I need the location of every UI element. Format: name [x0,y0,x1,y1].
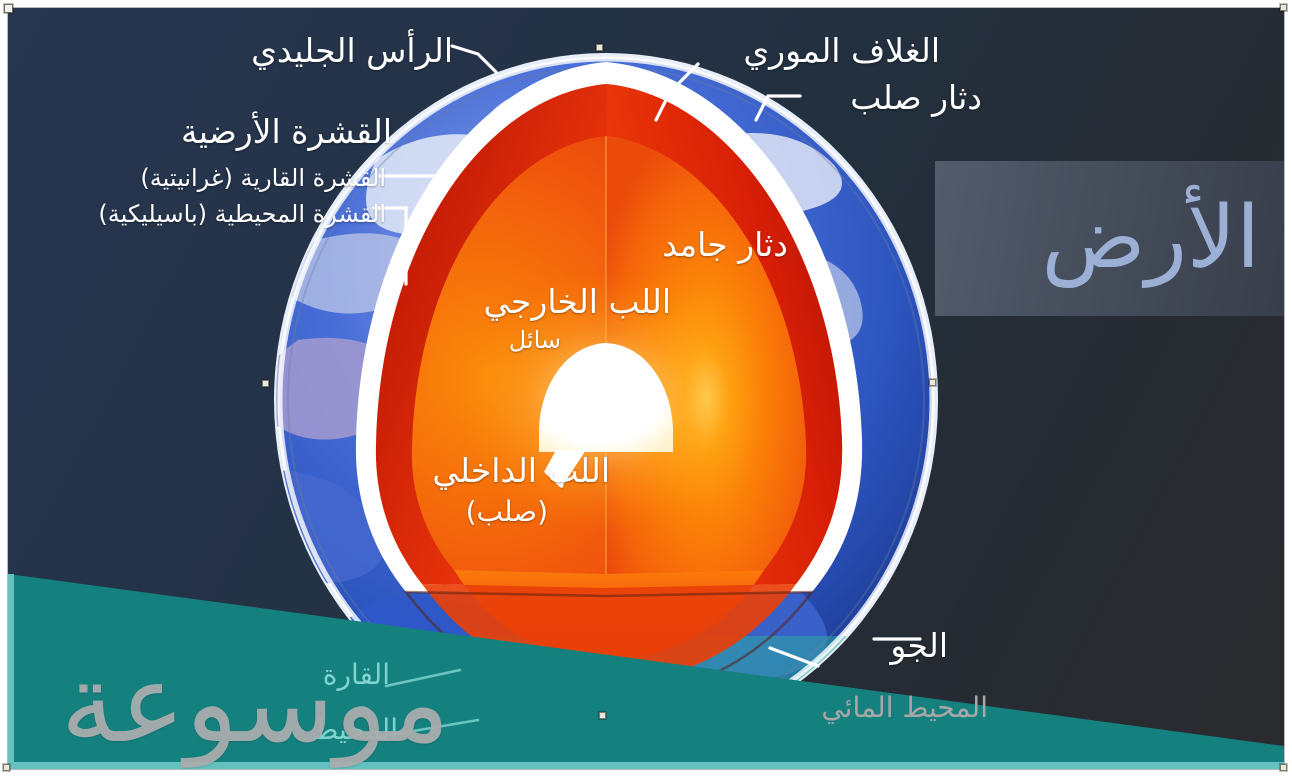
label-hydrosphere: المحيط المائي [798,691,988,724]
selection-handle-middle-right[interactable] [929,379,936,386]
selection-handle-bottom-left[interactable] [3,764,10,771]
selection-handle-top-right[interactable] [1280,4,1287,11]
slide-canvas: الأرض [0,0,1292,777]
label-asthenosphere: الغلاف الموري [712,31,940,70]
selection-handle-top-center[interactable] [596,44,603,51]
label-outer-core-state: سائل [495,326,561,354]
selection-handle-bottom-center[interactable] [599,712,606,719]
label-solid-mantle: دثار صلب [814,78,982,117]
label-oceanic-crust: القشرة المحيطية (باسيليكية) [8,200,386,228]
selection-handle-top-left[interactable] [4,4,13,13]
watermark: موسوعة [20,648,450,768]
selection-handle-bottom-right[interactable] [1280,764,1287,771]
label-crust-heading: القشرة الأرضية [130,112,392,151]
label-rigid-mantle: دثار جامد [628,225,788,264]
label-continental-crust: القشرة القارية (غرانيتية) [8,164,386,192]
page-title: الأرض [935,195,1274,283]
selection-handle-middle-left[interactable] [262,380,269,387]
label-outer-core: اللب الخارجي [463,282,671,321]
label-atmosphere: الجو [870,626,948,665]
title-plate[interactable]: الأرض [935,161,1284,316]
label-ice-cap: الرأس الجليدي [213,31,453,70]
label-inner-core: اللب الداخلي [408,451,610,490]
label-inner-core-state: (صلب) [458,495,548,528]
slide-surface[interactable]: الأرض [8,8,1284,769]
